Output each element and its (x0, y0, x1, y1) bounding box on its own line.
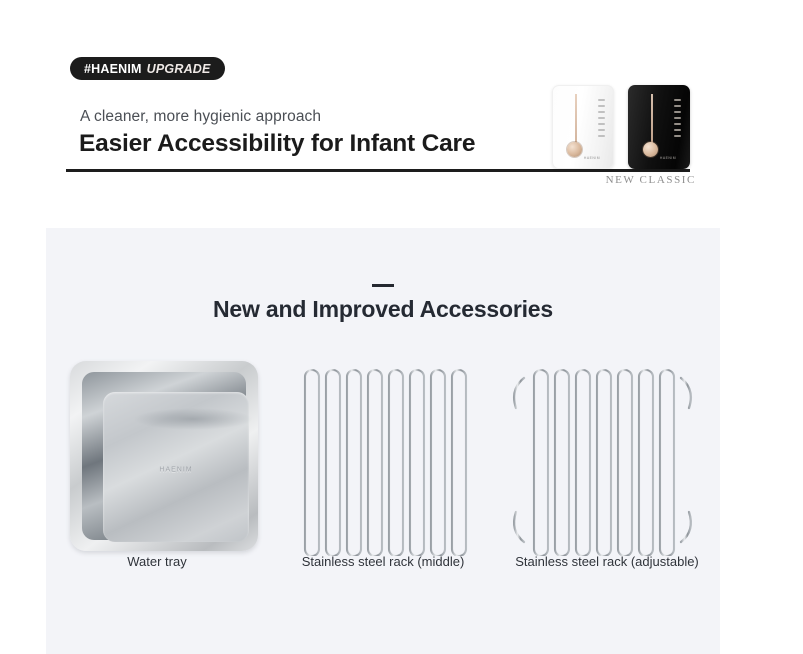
rack-side-hooks (514, 378, 691, 542)
unit-indicator-dots (674, 99, 681, 137)
tray-floor: HAENIM (103, 392, 249, 542)
badge-hashtag: #HAENIM (84, 62, 142, 76)
accessory-caption: Stainless steel rack (adjustable) (502, 554, 712, 569)
page-title: Easier Accessibility for Infant Care (79, 130, 475, 158)
unit-stripe (651, 94, 653, 144)
rack-middle-svg (278, 356, 488, 556)
accessory-item-rack-middle: Stainless steel rack (middle) (278, 356, 488, 586)
product-lineup-image: HAENIM HAENIM (552, 85, 697, 170)
tray-emboss-logo: HAENIM (159, 467, 192, 474)
unit-logo-text: HAENIM (660, 156, 676, 160)
accessories-panel: New and Improved Accessories HAENIM Wate… (46, 228, 720, 654)
unit-dial-knob (643, 142, 658, 157)
section-title: New and Improved Accessories (46, 296, 720, 323)
promo-header: #HAENIM UPGRADE A cleaner, more hygienic… (0, 0, 803, 228)
rack-adjustable-image (502, 356, 712, 556)
tray-wall: HAENIM (82, 372, 246, 540)
water-tray-image: HAENIM (54, 356, 264, 556)
badge-word: UPGRADE (147, 62, 211, 76)
rack-adjustable-svg (502, 356, 712, 556)
product-lineup-caption: NEW CLASSIC (600, 174, 696, 186)
section-dash-divider (372, 284, 394, 287)
header-kicker: A cleaner, more hygienic approach (80, 108, 321, 126)
rack-middle-image (278, 356, 488, 556)
white-sterilizer-unit: HAENIM (552, 85, 614, 169)
unit-indicator-dots (598, 99, 605, 137)
unit-dial-knob (567, 142, 582, 157)
tray-reflection (133, 408, 253, 430)
accessory-caption: Stainless steel rack (middle) (278, 554, 488, 569)
unit-stripe (575, 94, 577, 144)
upgrade-badge: #HAENIM UPGRADE (70, 57, 225, 80)
accessory-caption: Water tray (52, 554, 262, 569)
unit-logo-text: HAENIM (584, 156, 600, 160)
black-sterilizer-unit: HAENIM (628, 85, 690, 169)
accessory-item-water-tray: HAENIM Water tray (54, 356, 264, 586)
accessory-item-rack-adjustable: Stainless steel rack (adjustable) (502, 356, 712, 586)
tray-rim: HAENIM (70, 361, 258, 551)
accessories-list: HAENIM Water tray (46, 356, 720, 586)
